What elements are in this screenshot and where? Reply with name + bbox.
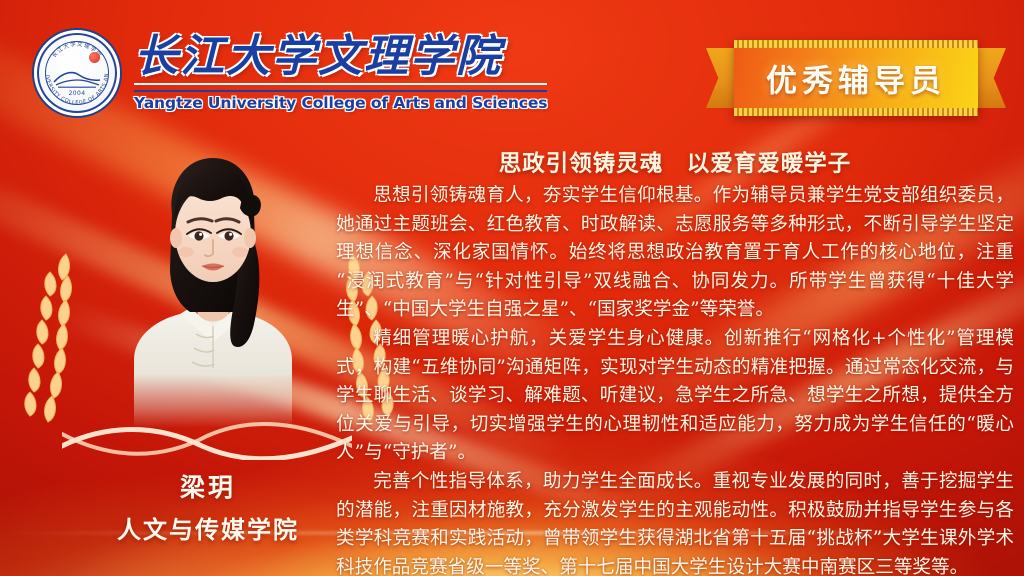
emblem-year: 2004 xyxy=(34,90,120,97)
counselor-department: 人文与传媒学院 xyxy=(58,510,358,545)
university-emblem-icon: 长江大学文理学院 YANGTZE UNIVERSITY COLLEGE OF A… xyxy=(34,30,120,116)
emblem-mountain-water-icon xyxy=(52,68,102,88)
wordmark-divider xyxy=(134,83,547,92)
citation-paragraph: 精细管理暖心护航，关爱学生身心健康。创新推行“网格化+个性化”管理模式，构建“五… xyxy=(336,325,1014,468)
citation-content: 思政引领铸灵魂 以爱育爱暖学子 思想引领铸魂育人，夯实学生信仰根基。作为辅导员兼… xyxy=(336,146,1014,576)
citation-paragraph: 完善个性指导体系，助力学生全面成长。重视专业发展的同时，善于挖掘学生的潜能，注重… xyxy=(336,468,1014,576)
citation-title: 思政引领铸灵魂 以爱育爱暖学子 xyxy=(336,146,1014,178)
counselor-portrait-photo xyxy=(118,128,308,428)
wheat-sprig-left-icon xyxy=(10,246,82,436)
award-ribbon: 优秀辅导员 xyxy=(706,40,1006,116)
citation-paragraph: 思想引领铸魂育人，夯实学生信仰根基。作为辅导员兼学生党支部组织委员，她通过主题班… xyxy=(336,182,1014,325)
award-poster: 长江大学文理学院 YANGTZE UNIVERSITY COLLEGE OF A… xyxy=(0,0,1024,576)
institution-name-cn: 长江大学文理学院 xyxy=(134,34,547,81)
counselor-nameplate: 梁玥 人文与传媒学院 xyxy=(58,468,358,545)
institution-wordmark: 长江大学文理学院 Yangtze University College of A… xyxy=(134,34,547,113)
ribbon-edge-top xyxy=(734,40,978,48)
ribbon-swirl-decor xyxy=(62,416,352,460)
award-title: 优秀辅导员 xyxy=(706,56,1006,101)
institution-name-en: Yangtze University College of Arts and S… xyxy=(134,94,547,112)
emblem-sun-icon xyxy=(89,52,100,63)
institution-header: 长江大学文理学院 YANGTZE UNIVERSITY COLLEGE OF A… xyxy=(34,30,547,116)
ribbon-edge-bottom xyxy=(734,108,978,116)
counselor-name: 梁玥 xyxy=(58,468,358,504)
portrait-block xyxy=(58,128,358,458)
